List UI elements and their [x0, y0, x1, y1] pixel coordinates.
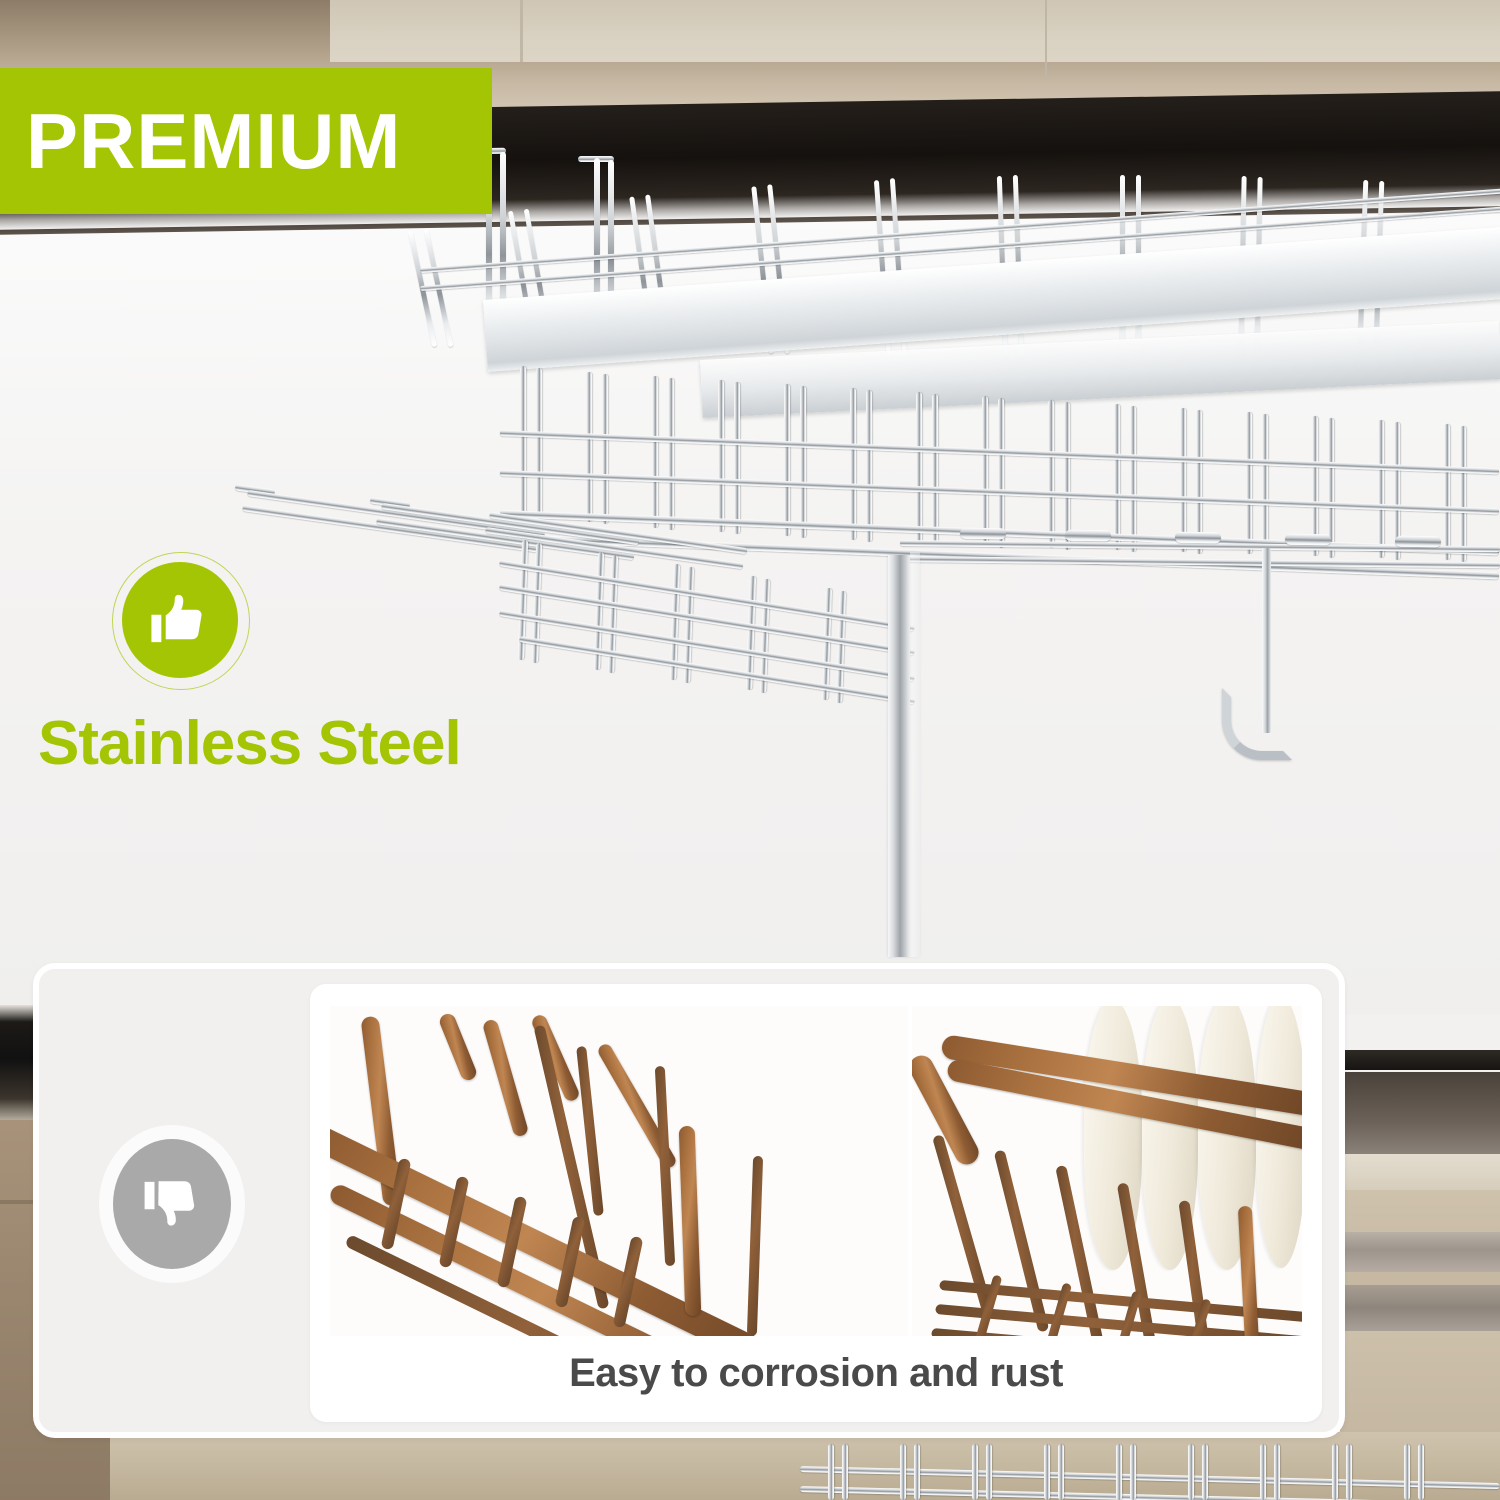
right-steel-bar: [1340, 1232, 1500, 1272]
cabinet-seam: [520, 0, 523, 62]
premium-badge-label: PREMIUM: [0, 102, 401, 180]
photo-rusty-rack-with-plates: [912, 1006, 1302, 1336]
bottom-counter: [110, 1432, 1500, 1500]
right-cabinet-dark: [1340, 1050, 1500, 1070]
photo-rusty-wire-rack: [330, 1006, 908, 1336]
product-marketing-image: PREMIUM Stainless Steel: [0, 0, 1500, 1500]
upper-cabinet-panel: [330, 0, 1500, 62]
thumbs-up-icon: [122, 562, 238, 678]
cabinet-seam-secondary: [1045, 0, 1047, 80]
feature-stainless-steel: Stainless Steel: [38, 562, 508, 779]
feature-title: Stainless Steel: [38, 708, 508, 779]
right-cabinet-cream: [1340, 1154, 1500, 1190]
comparison-photos-card: Easy to corrosion and rust: [310, 984, 1322, 1422]
thumbs-down-icon: [99, 1125, 245, 1283]
premium-badge: PREMIUM: [0, 68, 492, 214]
right-cabinet-shadow: [1345, 1072, 1500, 1154]
right-steel-bar-lower: [1340, 1285, 1500, 1331]
comparison-caption: Easy to corrosion and rust: [310, 1351, 1322, 1396]
